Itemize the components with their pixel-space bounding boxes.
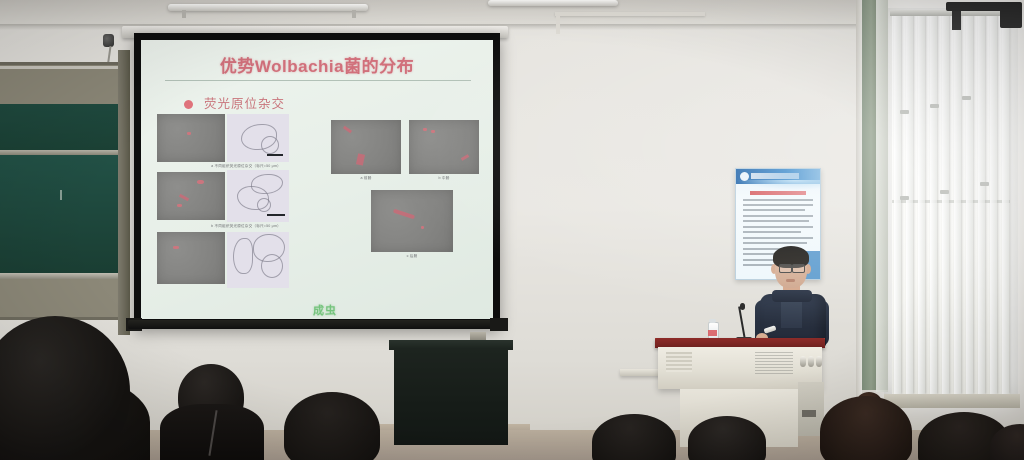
podium-control-panel[interactable] [755, 352, 793, 374]
eyeglasses-icon [779, 264, 792, 273]
vertical-blind-slat[interactable] [966, 14, 973, 394]
vertical-blind-slat[interactable] [930, 14, 937, 394]
vertical-blind-slat[interactable] [978, 14, 985, 394]
line-drawing-adult-1 [227, 114, 289, 162]
slide-bullet-text: 荧光原位杂交 [204, 93, 285, 112]
slide-title: 优势Wolbachia菌的分布 [141, 52, 493, 77]
audience-head [284, 392, 380, 460]
micrograph-larva-hindgut [371, 190, 453, 252]
panel-caption: b 中肠 [409, 176, 479, 181]
podium-knob[interactable] [800, 356, 806, 367]
blackboard-top-rail [0, 66, 122, 69]
water-bottle-label [708, 330, 717, 336]
presentation-slide: 优势Wolbachia菌的分布 荧光原位杂交 a 不同组织荧光原位杂交（标尺=5… [141, 40, 493, 319]
podium-knob[interactable] [816, 356, 822, 367]
vertical-blind-slat[interactable] [942, 14, 949, 394]
wall-conduit [555, 12, 705, 16]
slide-label-adult: 成虫 [313, 302, 337, 318]
window-curtain-liner[interactable] [876, 0, 888, 392]
poster-wave-graphic [736, 180, 820, 190]
fluorescent-tube-light [168, 4, 368, 11]
blackboard-post [118, 50, 130, 335]
screen-bottom-weight-bar [128, 320, 506, 329]
micrograph-larva-foregut [331, 120, 401, 174]
panel-caption: c 后肠 [371, 254, 453, 259]
eyeglasses-icon [792, 264, 805, 273]
mount-drop-rod [952, 8, 961, 30]
vertical-blind-slat[interactable] [918, 14, 925, 394]
chalk-mark [60, 190, 62, 200]
audience-head [688, 416, 766, 460]
cabinet-top-object [470, 332, 486, 340]
vertical-blind-slat[interactable] [990, 14, 997, 394]
line-drawing-adult-2 [227, 170, 289, 222]
chalk-tray [0, 273, 122, 279]
blackboard-panel-upper [0, 104, 122, 150]
speaker-mouth [786, 279, 795, 282]
screen-bottom-bar-end [490, 318, 508, 331]
wall-speaker-icon [103, 34, 114, 47]
speaker-shirt [781, 298, 802, 328]
vertical-blind-slat[interactable] [954, 14, 961, 394]
podium-knob[interactable] [808, 356, 814, 367]
micrograph-adult-2 [157, 172, 225, 220]
panel-caption: a 前肠 [331, 176, 401, 181]
audience-head [820, 396, 912, 460]
micrograph-adult-1 [157, 114, 225, 162]
light-bracket-icon [352, 10, 356, 18]
wall-conduit [556, 12, 560, 34]
ceiling-mount-head [1000, 2, 1022, 28]
blackboard-panel-lower [0, 155, 122, 273]
water-bottle-cap[interactable] [709, 319, 716, 323]
line-drawing-adult-3 [227, 232, 289, 288]
panel-caption: b 不同组织荧光原位杂交（标尺=50 μm） [201, 224, 291, 229]
fluorescent-tube-light [488, 0, 618, 6]
podium-speaker-grille [666, 352, 692, 372]
window-sill [884, 394, 1020, 408]
lecture-photo-scene: 优势Wolbachia菌的分布 荧光原位杂交 a 不同组织荧光原位杂交（标尺=5… [0, 0, 1024, 460]
microphone-head-icon[interactable] [740, 303, 745, 310]
panel-caption: a 不同组织荧光原位杂交（标尺=50 μm） [201, 164, 291, 169]
micrograph-larva-midgut [409, 120, 479, 174]
front-cabinet-body [394, 349, 508, 445]
poster-logo-icon [740, 172, 749, 181]
poster-title-text [750, 191, 806, 195]
poster-logo-text [751, 173, 799, 179]
eyeglasses-bridge [790, 267, 793, 268]
speaker-collar [772, 290, 812, 302]
slide-title-rule [165, 80, 471, 81]
vertical-blind-slat[interactable] [1002, 14, 1009, 394]
micrograph-adult-3 [157, 232, 225, 284]
bullet-dot-icon [184, 100, 193, 109]
vertical-blind-slat[interactable] [894, 14, 901, 394]
light-bracket-icon [182, 10, 186, 18]
podium-slot [802, 410, 816, 417]
vertical-blind-slat[interactable] [906, 14, 913, 394]
